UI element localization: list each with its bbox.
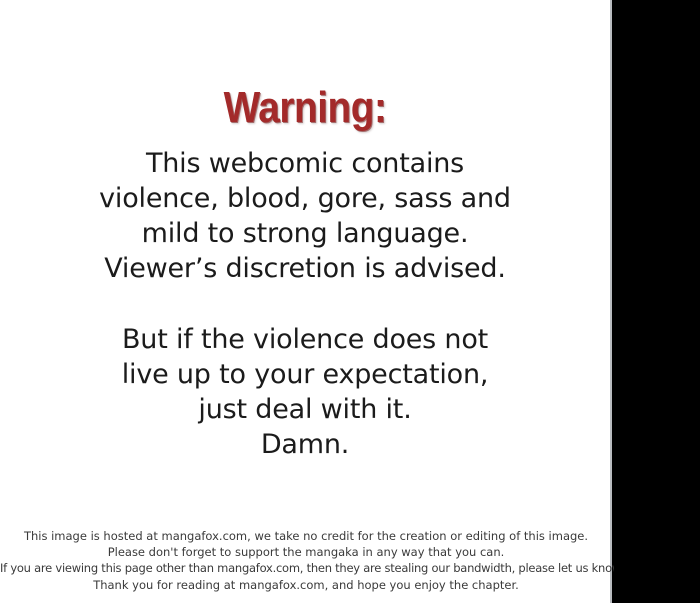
footer-line: Please don't forget to support the manga…	[0, 544, 612, 560]
warning-line: But if the violence does not	[0, 322, 610, 357]
warning-paragraph-two: But if the violence does not live up to …	[0, 322, 610, 462]
hosting-disclaimer-footer: This image is hosted at mangafox.com, we…	[0, 528, 612, 593]
comic-page-image: Warning: This webcomic contains violence…	[0, 0, 612, 603]
footer-line: Thank you for reading at mangafox.com, a…	[0, 577, 612, 593]
content-warning-notice: Warning: This webcomic contains violence…	[0, 84, 610, 462]
warning-line: This webcomic contains	[0, 146, 610, 181]
footer-line: If you are viewing this page other than …	[0, 560, 612, 576]
warning-paragraph-one: This webcomic contains violence, blood, …	[0, 146, 610, 286]
footer-line: This image is hosted at mangafox.com, we…	[0, 528, 612, 544]
comic-page-viewer: Warning: This webcomic contains violence…	[0, 0, 700, 603]
warning-line: violence, blood, gore, sass and	[0, 181, 610, 216]
warning-line: Damn.	[0, 427, 610, 462]
letterbox-band-right	[614, 0, 700, 603]
warning-line: mild to strong language.	[0, 216, 610, 251]
warning-line: just deal with it.	[0, 392, 610, 427]
warning-line: Viewer’s discretion is advised.	[0, 251, 610, 286]
warning-line: live up to your expectation,	[0, 357, 610, 392]
warning-heading: Warning:	[37, 84, 574, 132]
